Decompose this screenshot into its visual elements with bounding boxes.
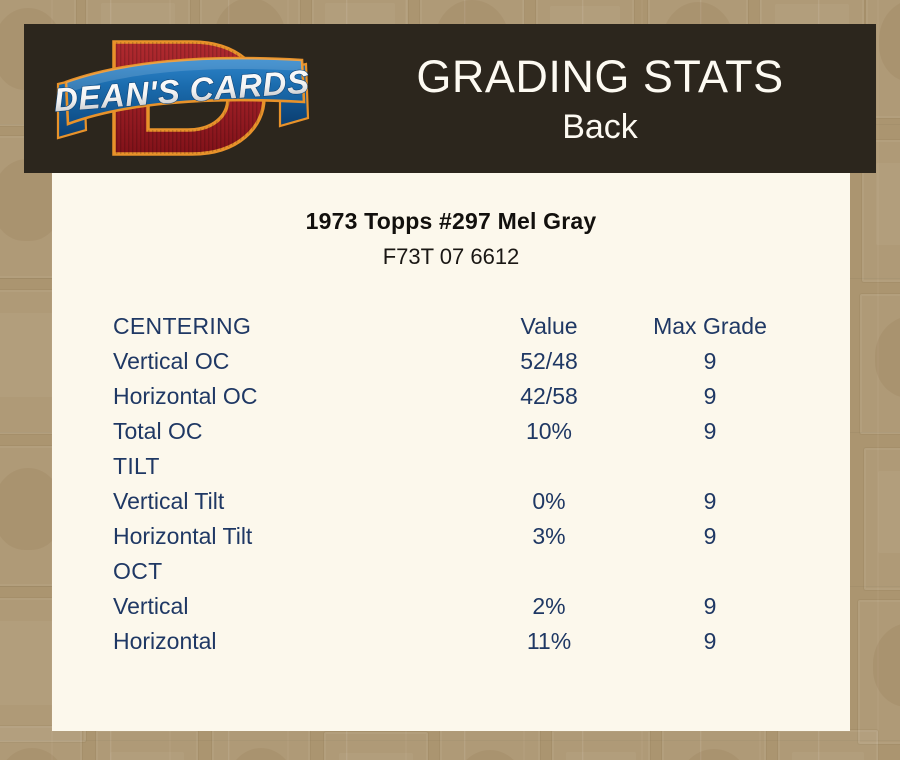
section-spacer xyxy=(631,449,789,484)
stat-max-grade: 9 xyxy=(631,344,789,379)
ghost-card xyxy=(324,732,428,760)
deans-cards-logo[interactable]: DEAN'S CARDS xyxy=(52,26,314,171)
stat-max-grade: 9 xyxy=(631,414,789,449)
stat-label: Horizontal Tilt xyxy=(113,519,467,554)
logo-ribbon-text: DEAN'S CARDS xyxy=(53,63,311,119)
ghost-card xyxy=(864,448,900,590)
stat-value: 42/58 xyxy=(467,379,631,414)
grading-stats-table: CENTERING Value Max Grade Vertical OC 52… xyxy=(113,309,789,659)
stat-value: 52/48 xyxy=(467,344,631,379)
stat-max-grade: 9 xyxy=(631,589,789,624)
stat-value: 3% xyxy=(467,519,631,554)
table-header: CENTERING Value Max Grade xyxy=(113,309,789,344)
column-header-category: CENTERING xyxy=(113,309,467,344)
ghost-card xyxy=(662,726,766,760)
section-spacer xyxy=(467,554,631,589)
stat-label: Vertical OC xyxy=(113,344,467,379)
header-bar: DEAN'S CARDS GRADING STATS Back xyxy=(24,24,876,173)
section-title: TILT xyxy=(113,449,467,484)
section-header-row: OCT xyxy=(113,554,789,589)
ghost-card xyxy=(0,726,82,760)
stat-label: Total OC xyxy=(113,414,467,449)
stat-label: Vertical xyxy=(113,589,467,624)
ghost-card xyxy=(860,294,900,434)
stat-value: 11% xyxy=(467,624,631,659)
section-header-row: TILT xyxy=(113,449,789,484)
ghost-card xyxy=(858,600,900,744)
content-panel: 1973 Topps #297 Mel Gray F73T 07 6612 CE… xyxy=(52,173,850,731)
table-row: Vertical OC 52/48 9 xyxy=(113,344,789,379)
stat-value: 0% xyxy=(467,484,631,519)
ghost-card xyxy=(212,726,310,760)
ghost-card xyxy=(778,730,878,760)
stat-value: 10% xyxy=(467,414,631,449)
section-title: OCT xyxy=(113,554,467,589)
table-header-row: CENTERING Value Max Grade xyxy=(113,309,789,344)
page-root: DEAN'S CARDS GRADING STATS Back 1973 Top… xyxy=(0,0,900,760)
table-row: Vertical Tilt 0% 9 xyxy=(113,484,789,519)
header-title-group: GRADING STATS Back xyxy=(324,24,876,173)
card-title: 1973 Topps #297 Mel Gray xyxy=(52,173,850,235)
stat-max-grade: 9 xyxy=(631,379,789,414)
stat-max-grade: 9 xyxy=(631,624,789,659)
stat-max-grade: 9 xyxy=(631,519,789,554)
stat-value: 2% xyxy=(467,589,631,624)
stat-max-grade: 9 xyxy=(631,484,789,519)
stat-label: Horizontal xyxy=(113,624,467,659)
column-header-max-grade: Max Grade xyxy=(631,309,789,344)
stat-label: Vertical Tilt xyxy=(113,484,467,519)
stat-label: Horizontal OC xyxy=(113,379,467,414)
ghost-card xyxy=(440,728,540,760)
table-body: Vertical OC 52/48 9 Horizontal OC 42/58 … xyxy=(113,344,789,659)
page-title: GRADING STATS xyxy=(416,51,783,103)
page-subtitle: Back xyxy=(562,107,638,147)
table-row: Horizontal OC 42/58 9 xyxy=(113,379,789,414)
ghost-card xyxy=(96,730,198,760)
ghost-card xyxy=(552,730,650,760)
section-spacer xyxy=(467,449,631,484)
column-header-value: Value xyxy=(467,309,631,344)
table-row: Horizontal 11% 9 xyxy=(113,624,789,659)
table-row: Vertical 2% 9 xyxy=(113,589,789,624)
card-serial-number: F73T 07 6612 xyxy=(52,235,850,270)
section-spacer xyxy=(631,554,789,589)
table-row: Horizontal Tilt 3% 9 xyxy=(113,519,789,554)
table-row: Total OC 10% 9 xyxy=(113,414,789,449)
